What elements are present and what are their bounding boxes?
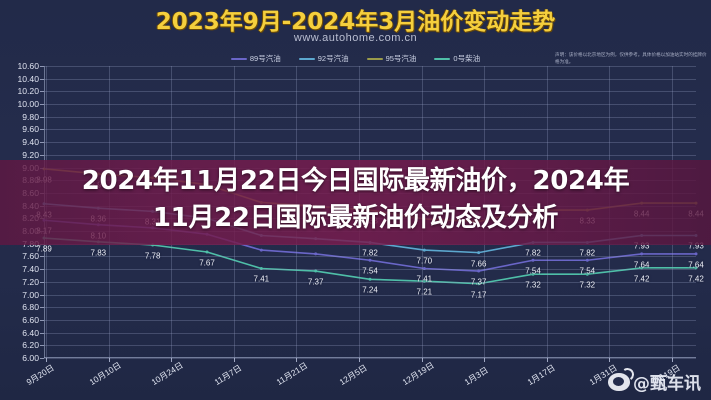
legend-item-0: 89号汽油 — [231, 53, 281, 64]
grid-line-horizontal — [44, 142, 696, 143]
x-tick-mark — [296, 358, 297, 362]
y-axis-tick-label: 10.40 — [17, 74, 39, 84]
data-point-label: 7.24 — [362, 286, 378, 295]
y-axis-tick-label: 6.40 — [22, 328, 39, 338]
grid-line-horizontal — [44, 104, 696, 105]
x-tick-mark — [109, 358, 110, 362]
legend-swatch-icon — [299, 58, 315, 60]
grid-line-horizontal — [44, 129, 696, 130]
source-url: www.autohome.com.cn — [0, 32, 711, 44]
y-axis-tick-label: 6.00 — [22, 353, 39, 363]
y-tick-mark — [40, 129, 44, 130]
series-point — [369, 278, 372, 281]
grid-line-horizontal — [44, 345, 696, 346]
data-point-label: 7.42 — [688, 274, 704, 283]
y-axis-tick-label: 10.60 — [17, 61, 39, 71]
y-axis-tick-label: 7.20 — [22, 277, 39, 287]
data-point-label: 7.67 — [199, 258, 215, 267]
weibo-watermark: @甄车讯 — [608, 369, 701, 394]
data-point-label: 7.82 — [525, 249, 541, 258]
legend-swatch-icon — [367, 58, 383, 60]
series-point — [477, 251, 480, 254]
data-point-label: 7.78 — [145, 252, 161, 261]
y-tick-mark — [40, 91, 44, 92]
legend-label: 92号汽油 — [318, 53, 349, 64]
series-point — [640, 252, 643, 255]
y-axis-tick-label: 7.00 — [22, 290, 39, 300]
y-tick-mark — [40, 333, 44, 334]
y-tick-mark — [40, 117, 44, 118]
series-point — [206, 250, 209, 253]
y-tick-mark — [40, 307, 44, 308]
data-point-label: 7.70 — [417, 257, 433, 266]
data-point-label: 7.21 — [417, 288, 433, 297]
legend-label: 89号汽油 — [250, 53, 281, 64]
y-tick-mark — [40, 155, 44, 156]
data-point-label: 7.32 — [580, 281, 596, 290]
x-tick-mark — [359, 358, 360, 362]
y-tick-mark — [40, 358, 44, 359]
weibo-icon — [608, 373, 630, 391]
x-tick-mark — [609, 358, 610, 362]
x-tick-mark — [234, 358, 235, 362]
series-point — [369, 259, 372, 262]
data-point-label: 7.37 — [471, 278, 487, 287]
x-tick-mark — [46, 358, 47, 362]
series-point — [586, 259, 589, 262]
series-point — [314, 252, 317, 255]
data-point-label: 7.17 — [471, 290, 487, 299]
y-tick-mark — [40, 269, 44, 270]
data-point-label: 7.41 — [254, 275, 270, 284]
legend-label: 0号柴油 — [453, 53, 480, 64]
grid-line-horizontal — [44, 155, 696, 156]
data-point-label: 7.89 — [36, 245, 52, 254]
overlay-headline: 2024年11月22日今日国际最新油价，2024年 11月22日国际最新油价动态… — [0, 163, 711, 237]
data-point-label: 7.82 — [580, 249, 596, 258]
legend-swatch-icon — [231, 58, 247, 60]
grid-line-horizontal — [44, 282, 696, 283]
data-point-label: 7.41 — [417, 275, 433, 284]
overlay-headline-line2: 11月22日国际最新油价动态及分析 — [0, 200, 711, 237]
chart-screenshot: 2023年9月-2024年3月油价变动走势 www.autohome.com.c… — [0, 0, 711, 400]
grid-line-horizontal — [44, 358, 696, 359]
y-tick-mark — [40, 142, 44, 143]
y-axis-tick-label: 9.40 — [22, 137, 39, 147]
y-tick-mark — [40, 79, 44, 80]
x-tick-mark — [422, 358, 423, 362]
series-point — [260, 249, 263, 252]
chart-header: 2023年9月-2024年3月油价变动走势 www.autohome.com.c… — [0, 0, 711, 50]
data-point-label: 7.82 — [362, 249, 378, 258]
data-point-label: 7.42 — [634, 274, 650, 283]
data-point-label: 7.54 — [580, 267, 596, 276]
legend-item-1: 92号汽油 — [299, 53, 349, 64]
y-axis-tick-label: 9.20 — [22, 150, 39, 160]
data-point-label: 7.83 — [91, 248, 107, 257]
data-point-label: 7.32 — [525, 281, 541, 290]
data-point-label: 7.64 — [688, 260, 704, 269]
legend-item-2: 95号汽油 — [367, 53, 417, 64]
grid-line-horizontal — [44, 79, 696, 80]
y-tick-mark — [40, 104, 44, 105]
x-tick-mark — [171, 358, 172, 362]
chart-title: 2023年9月-2024年3月油价变动走势 — [0, 2, 711, 36]
series-point — [532, 259, 535, 262]
y-axis-tick-label: 9.60 — [22, 124, 39, 134]
y-tick-mark — [40, 66, 44, 67]
data-point-label: 7.54 — [525, 267, 541, 276]
y-tick-mark — [40, 295, 44, 296]
grid-line-horizontal — [44, 333, 696, 334]
series-point — [695, 252, 698, 255]
y-axis-tick-label: 9.80 — [22, 112, 39, 122]
overlay-headline-line1: 2024年11月22日今日国际最新油价，2024年 — [0, 163, 711, 200]
data-point-label: 7.64 — [634, 260, 650, 269]
legend-item-3: 0号柴油 — [434, 53, 480, 64]
chart-legend: 89号汽油92号汽油95号汽油0号柴油 — [0, 53, 711, 64]
grid-line-horizontal — [44, 91, 696, 92]
x-tick-mark — [547, 358, 548, 362]
x-tick-mark — [672, 358, 673, 362]
grid-line-horizontal — [44, 320, 696, 321]
y-axis-tick-label: 10.00 — [17, 99, 39, 109]
data-point-label: 7.37 — [308, 278, 324, 287]
legend-label: 95号汽油 — [386, 53, 417, 64]
y-tick-mark — [40, 282, 44, 283]
x-tick-mark — [484, 358, 485, 362]
grid-line-horizontal — [44, 66, 696, 67]
y-tick-mark — [40, 256, 44, 257]
data-point-label: 7.54 — [362, 267, 378, 276]
data-point-label: 7.66 — [471, 259, 487, 268]
y-axis-tick-label: 7.40 — [22, 264, 39, 274]
grid-line-horizontal — [44, 117, 696, 118]
legend-swatch-icon — [434, 58, 450, 60]
y-axis-tick-label: 6.80 — [22, 302, 39, 312]
y-axis-tick-label: 6.20 — [22, 340, 39, 350]
y-axis-tick-label: 6.60 — [22, 315, 39, 325]
y-tick-mark — [40, 345, 44, 346]
grid-line-horizontal — [44, 307, 696, 308]
y-axis-tick-label: 10.20 — [17, 86, 39, 96]
weibo-handle: @甄车讯 — [633, 369, 701, 394]
series-point — [423, 249, 426, 252]
y-tick-mark — [40, 320, 44, 321]
